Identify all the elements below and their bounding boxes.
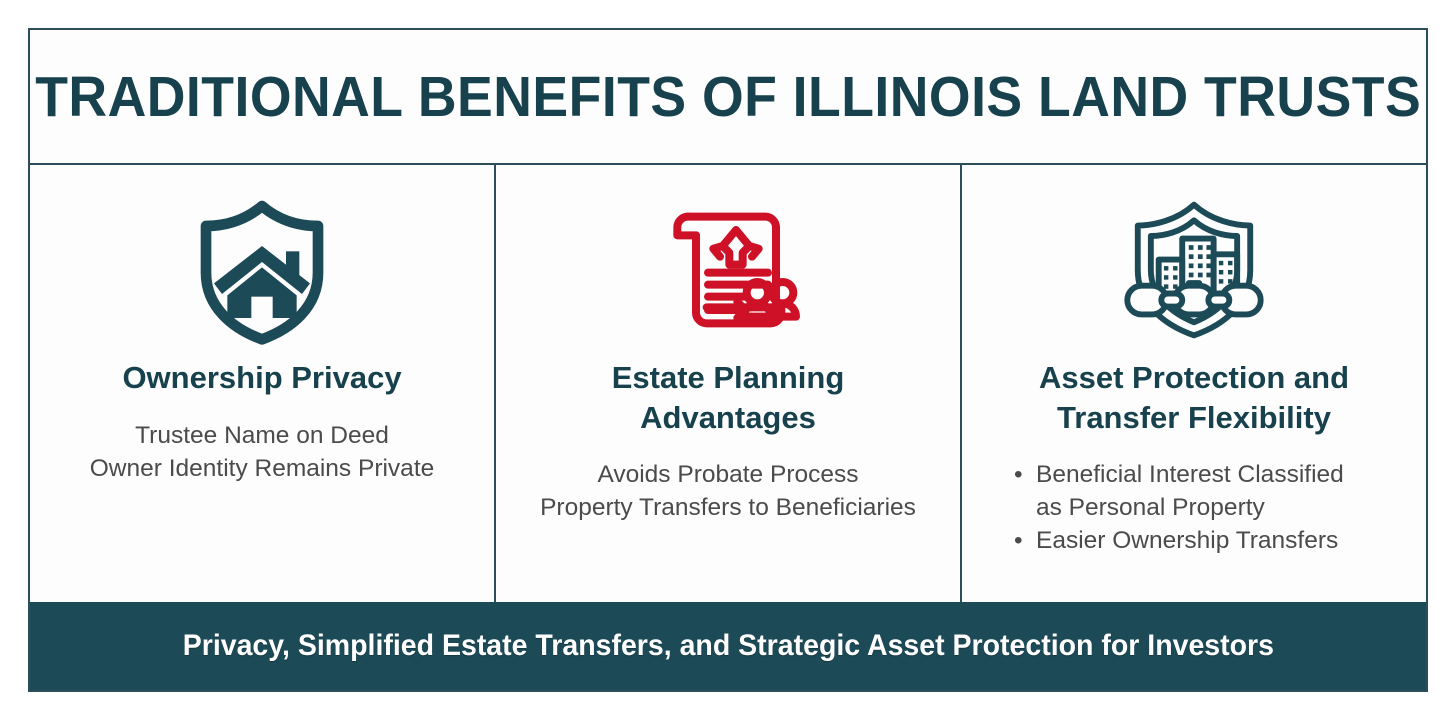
shield-house-icon <box>182 187 342 352</box>
infographic-card: TRADITIONAL BENEFITS OF ILLINOIS LAND TR… <box>28 28 1428 692</box>
body-line: Easier Ownership Transfers <box>1014 525 1374 558</box>
scroll-deed-transfer-icon <box>648 187 808 352</box>
benefit-column-estate-planning: Estate Planning Advantages Avoids Probat… <box>494 165 960 602</box>
body-line: Trustee Name on Deed <box>90 420 435 453</box>
benefit-column-ownership-privacy: Ownership Privacy Trustee Name on Deed O… <box>30 165 494 602</box>
body-line: Avoids Probate Process <box>540 459 916 492</box>
body-line: Property Transfers to Beneficiaries <box>540 492 916 525</box>
benefit-columns: Ownership Privacy Trustee Name on Deed O… <box>30 165 1426 602</box>
column-heading: Asset Protection and Transfer Flexibilit… <box>1014 358 1374 437</box>
body-line: Beneficial Interest Classified as Person… <box>1014 459 1374 525</box>
column-heading: Ownership Privacy <box>122 358 401 398</box>
title-bar: TRADITIONAL BENEFITS OF ILLINOIS LAND TR… <box>30 30 1426 165</box>
page-title: TRADITIONAL BENEFITS OF ILLINOIS LAND TR… <box>35 64 1421 130</box>
footer-text: Privacy, Simplified Estate Transfers, an… <box>182 629 1273 663</box>
column-body: Trustee Name on Deed Owner Identity Rema… <box>90 420 435 486</box>
footer-banner: Privacy, Simplified Estate Transfers, an… <box>30 602 1426 690</box>
shield-buildings-chain-icon <box>1109 187 1279 352</box>
column-heading: Estate Planning Advantages <box>548 358 908 437</box>
column-body: Avoids Probate Process Property Transfer… <box>540 459 916 525</box>
body-line: Owner Identity Remains Private <box>90 453 435 486</box>
column-body: Beneficial Interest Classified as Person… <box>1014 459 1374 557</box>
benefit-column-asset-protection: Asset Protection and Transfer Flexibilit… <box>960 165 1426 602</box>
